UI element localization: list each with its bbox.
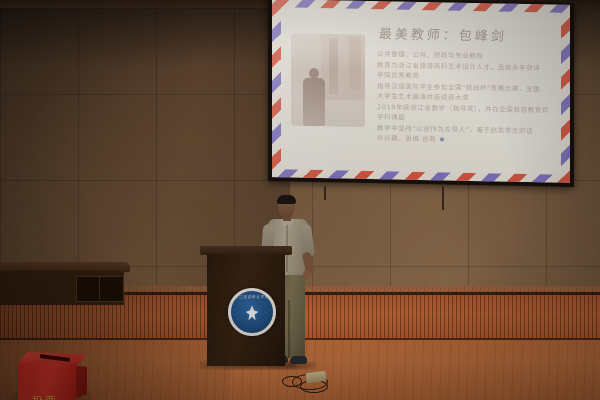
emblem-label: 浙江旅游职业学院 [231, 295, 273, 300]
ballot-box-label: 投票 [32, 393, 58, 400]
screen-hook-icon [442, 186, 444, 210]
ballot-box-front: 投票 [18, 363, 76, 400]
screen-hook-icon [324, 186, 326, 200]
screen-surface: 最美教师：包峰剑 公共管理、公共、财政与专业教授 教育为浙江省旅游商科艺术设计人… [272, 0, 570, 183]
stage-table-panel [76, 276, 124, 302]
slide-body-text: 公共管理、公共、财政与专业教授 教育为浙江省旅游商科艺术设计人才，连续多年获评 … [377, 49, 555, 147]
stage-table-panel-divider [99, 276, 100, 300]
emblem-bird-icon [246, 305, 259, 320]
ballot-box: 投票 [18, 352, 86, 400]
floor-cable [282, 376, 302, 387]
slide-title: 最美教师：包峰剑 [378, 23, 508, 44]
presenter-hand-right [303, 270, 311, 278]
slide-content-area: 最美教师：包峰剑 公共管理、公共、财政与专业教授 教育为浙江省旅游商科艺术设计人… [281, 7, 561, 174]
projection-screen: 最美教师：包峰剑 公共管理、公共、财政与专业教授 教育为浙江省旅游商科艺术设计人… [268, 0, 574, 187]
auditorium-scene: 最美教师：包峰剑 公共管理、公共、财政与专业教授 教育为浙江省旅游商科艺术设计人… [0, 0, 600, 400]
slide-portrait-photo [291, 34, 365, 127]
slide-line: 外兴趣、思维 创新 [377, 133, 555, 147]
university-emblem-icon: 浙江旅游职业学院 [228, 288, 276, 336]
